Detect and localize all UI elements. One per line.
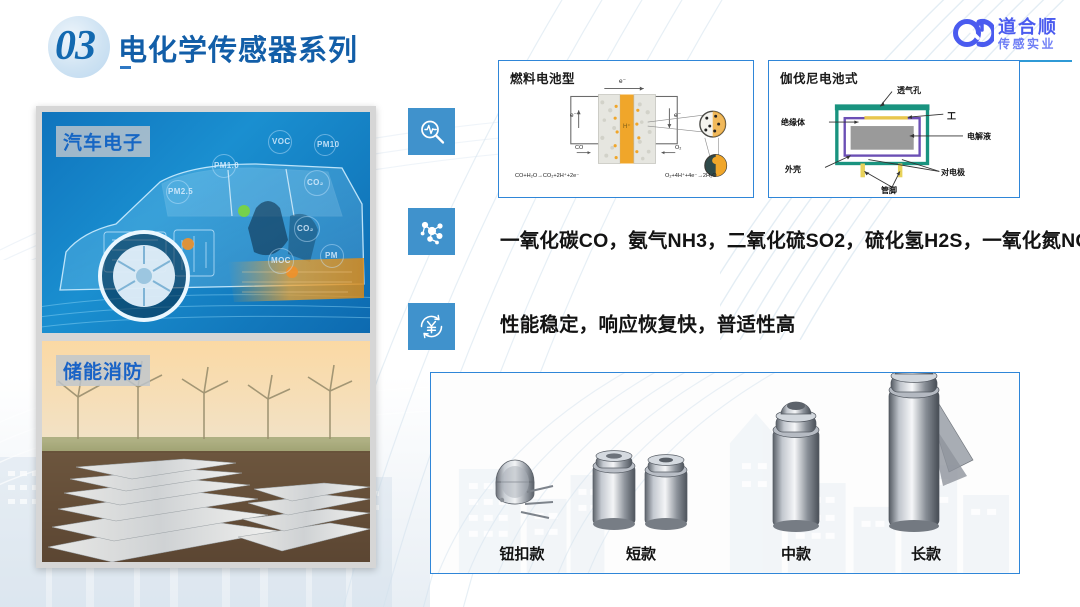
- molecule-icon: [417, 217, 447, 247]
- product-label-short: 短款: [586, 543, 696, 564]
- product-image-long-type: [879, 372, 985, 537]
- gas-tag-voc: VOC: [272, 137, 291, 146]
- medium-sensor-icon: [761, 396, 831, 532]
- long-sensor-icon: [879, 372, 985, 532]
- magnifier-pulse-icon: [418, 118, 446, 146]
- icon-tile-gases[interactable]: [408, 208, 455, 255]
- label-shell: 外壳: [785, 164, 801, 175]
- product-image-short-type: [587, 444, 697, 537]
- electron-label-right: e⁻: [674, 111, 681, 119]
- fuel-cell-cathode-equation: O₂+4H⁺+4e⁻→2H₂O: [665, 173, 717, 179]
- label-working-electrode: 工: [947, 109, 956, 122]
- yuan-refresh-icon: [417, 312, 446, 341]
- product-lineup-panel: 钮扣款 短款 中款 长款: [430, 372, 1020, 574]
- gas-tag-co2-mid: CO₂: [297, 224, 314, 233]
- galvanic-cell-schematic-icon: [769, 61, 1019, 197]
- electron-label-top: e⁻: [619, 77, 626, 85]
- product-label-medium: 中款: [741, 543, 851, 564]
- photo-caption-automotive: 汽车电子: [56, 126, 150, 157]
- energy-storage-fire-safety-photo: 储能消防: [42, 341, 370, 562]
- gas-tag-pm10: PM10: [317, 140, 340, 149]
- product-image-medium-type: [761, 396, 831, 537]
- gas-tag-moc: MOC: [271, 256, 291, 265]
- product-label-button: 钮扣款: [467, 543, 577, 564]
- label-insulator: 绝缘体: [781, 117, 805, 128]
- photo-caption-energy: 储能消防: [56, 355, 150, 386]
- gas-tag-pm: PM: [325, 251, 338, 260]
- interlocking-rings-logo-icon: [952, 12, 994, 54]
- icon-tile-detection[interactable]: [408, 108, 455, 155]
- proton-label: H⁺: [623, 123, 631, 130]
- gas-tag-pm1: PM1.0: [214, 161, 239, 170]
- performance-text: 性能稳定，响应恢复快，普适性高: [500, 308, 796, 337]
- fuel-cell-type-diagram: 燃料电池型: [498, 60, 754, 198]
- slide-root: 03 电化学传感器系列 道合顺 传感实业: [0, 0, 1080, 607]
- brand-logo: 道合顺 传感实业: [952, 10, 1072, 58]
- target-gases-text: 一氧化碳CO，氨气NH3，二氧化硫SO2，硫化氢H2S，一氧化氮NO等: [500, 224, 1080, 253]
- short-sensor-icon: [587, 444, 697, 532]
- product-label-long: 长款: [871, 543, 981, 564]
- logo-company-subtitle: 传感实业: [998, 35, 1056, 52]
- label-counter-electrode: 对电极: [941, 167, 965, 178]
- fuel-cell-anode-equation: CO+H₂O→CO₂+2H⁺+2e⁻: [515, 173, 579, 179]
- label-vent: 透气孔: [897, 85, 921, 96]
- label-pins: 管脚: [881, 185, 897, 196]
- gas-in-label: CO: [575, 145, 583, 151]
- gas-out-label: O₂: [675, 145, 681, 151]
- page-title: 电化学传感器系列: [118, 27, 358, 69]
- product-image-button-type: [485, 452, 559, 535]
- section-number: 03: [55, 22, 95, 70]
- galvanic-cell-type-diagram: 伽伐尼电池式 透气: [768, 60, 1020, 198]
- photo-stack: VOC PM10 PM1.0 PM2.5 CO₂ CO₂ MOC PM 汽车电子: [36, 106, 376, 568]
- electron-label-left: e⁻: [570, 111, 577, 119]
- title-underline: [120, 66, 131, 69]
- label-electrolyte: 电解液: [967, 131, 991, 142]
- gas-tag-pm25: PM2.5: [168, 187, 193, 196]
- button-sensor-icon: [485, 452, 559, 530]
- automotive-electronics-photo: VOC PM10 PM1.0 PM2.5 CO₂ CO₂ MOC PM 汽车电子: [42, 112, 370, 333]
- gas-tag-co2-top: CO₂: [307, 178, 324, 187]
- icon-tile-performance[interactable]: [408, 303, 455, 350]
